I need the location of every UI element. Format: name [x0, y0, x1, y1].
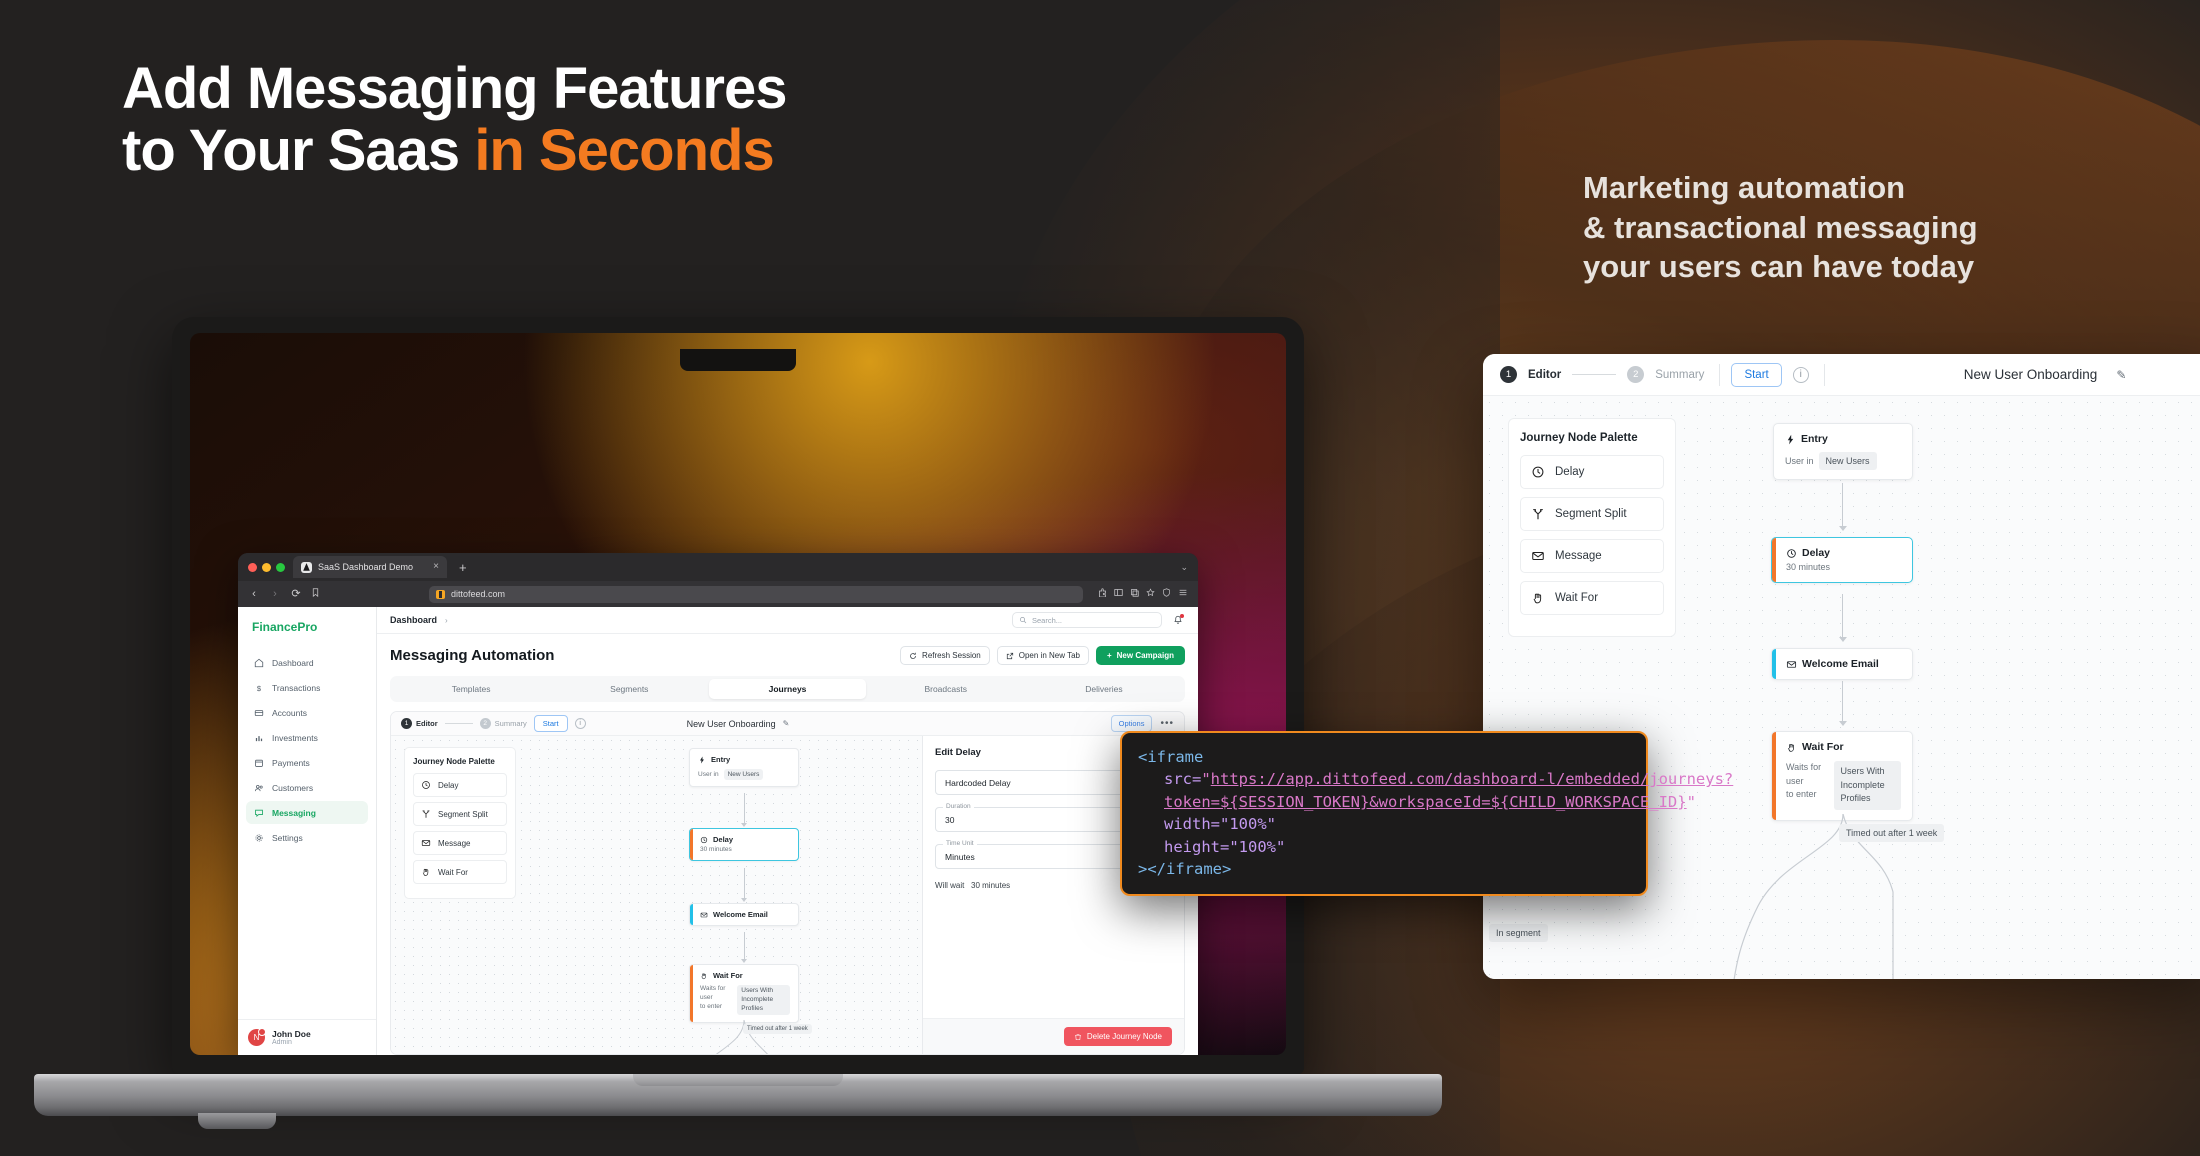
- clock-icon: [1531, 465, 1545, 479]
- code-line-1: <iframe: [1138, 746, 1630, 768]
- panel-waitfor-prefix-l1: Waits for user: [1786, 762, 1821, 786]
- browser-urlbar: ‹ › ⟳ dittofeed.com: [238, 581, 1198, 607]
- new-campaign-button[interactable]: + New Campaign: [1096, 646, 1185, 665]
- node-email-accent-bar: [690, 904, 693, 925]
- laptop-mockup: SaaS Dashboard Demo × + ⌄ ‹ › ⟳ dittofee…: [172, 317, 1304, 1077]
- sidebar-item-label: Dashboard: [272, 658, 314, 668]
- hero-headline: Add Messaging Features to Your Saas in S…: [122, 58, 1122, 182]
- panel-journey-name: New User Onboarding: [1964, 367, 2098, 382]
- breadcrumb[interactable]: Dashboard: [390, 615, 437, 625]
- split-icon: [1531, 507, 1545, 521]
- duration-label: Duration: [943, 803, 974, 810]
- headline-accent: in Seconds: [474, 118, 773, 183]
- panel-step-1-number: 1: [1500, 366, 1517, 383]
- sidebar-item-label: Transactions: [272, 683, 320, 693]
- sidebar-user-profile[interactable]: N John Doe Admin: [238, 1019, 376, 1055]
- code-l4: height="100%": [1164, 838, 1285, 856]
- page-actions: Refresh Session Open in New Tab + New Ca…: [900, 646, 1185, 665]
- address-bar[interactable]: dittofeed.com: [429, 586, 1083, 603]
- edge-arrow: [741, 898, 747, 902]
- node-waitfor-title: Wait For: [713, 971, 743, 980]
- palette-item-label: Message: [438, 839, 470, 848]
- clock-icon: [421, 780, 431, 790]
- code-line-5: ></iframe>: [1138, 858, 1630, 880]
- node-waitfor-accent-bar: [690, 965, 693, 1022]
- delay-type-value: Hardcoded Delay: [945, 778, 1011, 788]
- palette-item-wait-for[interactable]: Wait For: [413, 860, 507, 884]
- sidebar-item-label: Accounts: [272, 708, 307, 718]
- sidebar-item-label: Investments: [272, 733, 318, 743]
- time-unit-value: Minutes: [945, 852, 975, 862]
- bolt-icon: [698, 756, 706, 764]
- node-delay-title: Delay: [713, 835, 733, 844]
- shield-icon[interactable]: [1162, 588, 1171, 600]
- node-delay-header: Delay: [700, 835, 790, 844]
- app-topbar: Dashboard › Search...: [377, 607, 1198, 634]
- panel-node-wait-for[interactable]: Wait For Waits for user to enter Users W…: [1771, 731, 1913, 821]
- notifications-button[interactable]: [1171, 613, 1185, 627]
- node-email-header: Welcome Email: [700, 910, 790, 919]
- node-waitfor-header: Wait For: [700, 971, 790, 980]
- palette-item-delay[interactable]: Delay: [413, 773, 507, 797]
- panel-edge-entry-delay: [1842, 483, 1843, 528]
- browser-tabbar: SaaS Dashboard Demo × + ⌄: [238, 553, 1198, 581]
- close-window-button[interactable]: [248, 563, 257, 572]
- panel-palette-item-label: Delay: [1555, 466, 1584, 478]
- node-waitfor-chip-l2: Incomplete Profiles: [741, 996, 773, 1012]
- clock-icon: [700, 836, 708, 844]
- palette-item-label: Delay: [438, 781, 458, 790]
- panel-edge-email-waitfor: [1842, 681, 1843, 723]
- step-summary[interactable]: 2 Summary: [480, 718, 527, 729]
- code-l3: width="100%": [1164, 815, 1276, 833]
- tab-broadcasts[interactable]: Broadcasts: [868, 679, 1024, 699]
- time-unit-label: Time Unit: [943, 840, 977, 847]
- browser-tab[interactable]: SaaS Dashboard Demo ×: [293, 556, 447, 578]
- panel-edge-arrow: [1839, 526, 1847, 531]
- step-2-number: 2: [480, 718, 491, 729]
- avatar: N: [248, 1029, 265, 1046]
- drawer-title: Edit Delay: [935, 747, 981, 758]
- tab-segments[interactable]: Segments: [551, 679, 707, 699]
- node-waitfor-prefix-l2: to enter: [700, 1003, 722, 1010]
- timeout-label: Timed out after 1 week: [743, 1024, 812, 1034]
- node-entry-title: Entry: [711, 755, 730, 764]
- edit-pencil-icon[interactable]: ✎: [2116, 368, 2126, 382]
- panel-palette-item-wait-for[interactable]: Wait For: [1520, 581, 1664, 615]
- dollar-icon: $: [253, 682, 264, 693]
- refresh-session-button[interactable]: Refresh Session: [900, 646, 990, 665]
- saas-app: FinancePro Dashboard $ Transactions A: [238, 607, 1198, 1055]
- envelope-icon: [700, 911, 708, 919]
- tab-deliveries[interactable]: Deliveries: [1026, 679, 1182, 699]
- sidebar-item-label: Payments: [272, 758, 310, 768]
- panel-step-1-label: Editor: [1528, 369, 1561, 381]
- panel-node-delay-header: Delay: [1786, 547, 1901, 559]
- will-wait-label: Will wait: [935, 881, 964, 890]
- plus-icon: +: [1107, 651, 1112, 660]
- bolt-icon: [1785, 434, 1796, 445]
- sidebar-item-investments[interactable]: Investments: [246, 726, 368, 749]
- external-link-icon: [1006, 652, 1014, 660]
- hand-icon: [421, 867, 431, 877]
- edge-arrow: [741, 823, 747, 827]
- palette-item-segment-split[interactable]: Segment Split: [413, 802, 507, 826]
- journey-canvas[interactable]: Journey Node Palette Delay Segment Split: [391, 736, 1184, 1054]
- options-button[interactable]: Options: [1111, 715, 1153, 732]
- panel-waitfor-prefix-l2: to enter: [1786, 789, 1817, 799]
- panel-palette-title: Journey Node Palette: [1520, 432, 1664, 444]
- sidebar-item-payments[interactable]: Payments: [246, 751, 368, 774]
- journey-node-palette: Journey Node Palette Delay Segment Split: [404, 747, 516, 899]
- code-line-3: width="100%": [1138, 813, 1630, 835]
- minimize-window-button[interactable]: [262, 563, 271, 572]
- envelope-icon: [1786, 659, 1797, 670]
- sidebar-item-settings[interactable]: Settings: [246, 826, 368, 849]
- panel-in-segment-label: In segment: [1489, 924, 1548, 942]
- subhead-line-3: your users can have today: [1583, 247, 2143, 287]
- node-welcome-email[interactable]: Welcome Email: [689, 903, 799, 926]
- bar-chart-icon: [253, 732, 264, 743]
- step-1-label: Editor: [416, 719, 438, 728]
- sidebar-item-label: Customers: [272, 783, 313, 793]
- laptop-base-lip: [633, 1074, 843, 1086]
- panel-node-delay-sub: 30 minutes: [1786, 562, 1901, 572]
- step-1-number: 1: [401, 718, 412, 729]
- open-in-new-tab-button[interactable]: Open in New Tab: [997, 646, 1089, 665]
- gear-icon: [253, 832, 264, 843]
- app-main: Dashboard › Search...: [377, 607, 1198, 1055]
- copy-icon[interactable]: [1130, 588, 1139, 600]
- step-connector: [445, 723, 473, 724]
- duration-value: 30: [945, 815, 954, 825]
- sidebar-item-transactions[interactable]: $ Transactions: [246, 676, 368, 699]
- chevron-down-icon[interactable]: ⌄: [1180, 562, 1188, 573]
- panel-node-waitfor-accent-bar: [1772, 732, 1776, 820]
- will-wait-value: 30 minutes: [971, 881, 1010, 890]
- section-tabs: Templates Segments Journeys Broadcasts D…: [390, 676, 1185, 702]
- panel-node-delay[interactable]: Delay 30 minutes: [1771, 537, 1913, 583]
- node-entry-chip: New Users: [724, 769, 764, 780]
- app-brand: FinancePro: [238, 607, 376, 647]
- panel-node-entry-header: Entry: [1785, 433, 1901, 445]
- browser-toolbar-icons: [1098, 588, 1188, 600]
- panel-node-waitfor-header: Wait For: [1786, 741, 1901, 753]
- panel-node-email-title: Welcome Email: [1802, 658, 1879, 670]
- code-l5: ></iframe>: [1138, 860, 1231, 878]
- headline-line-2-plain: to Your Saas: [122, 118, 474, 183]
- edge-entry-delay: [744, 793, 745, 825]
- tab-favicon-icon: [301, 562, 312, 573]
- clock-icon: [1786, 548, 1797, 559]
- more-options-icon[interactable]: •••: [1160, 718, 1174, 729]
- panel-palette-item-segment-split[interactable]: Segment Split: [1520, 497, 1664, 531]
- hand-icon: [1531, 591, 1545, 605]
- panel-node-entry[interactable]: Entry User in New Users: [1773, 423, 1913, 480]
- reload-icon[interactable]: ⟳: [290, 589, 302, 600]
- sidebar-item-label: Messaging: [272, 808, 316, 818]
- page-header: Messaging Automation Refresh Session Ope…: [377, 634, 1198, 665]
- code-l2-end-quote: ": [1687, 793, 1696, 811]
- new-campaign-label: New Campaign: [1117, 651, 1174, 660]
- panel-node-waitfor-chip: Users With Incomplete Profiles: [1834, 761, 1901, 810]
- site-favicon-icon: [436, 590, 445, 599]
- sidebar-icon[interactable]: [1114, 588, 1123, 600]
- panel-waitfor-chip-l1: Users With: [1841, 766, 1885, 776]
- menu-icon[interactable]: [1178, 588, 1188, 600]
- home-icon: [253, 657, 264, 668]
- code-line-4: height="100%": [1138, 836, 1630, 858]
- node-delay-sub: 30 minutes: [700, 846, 790, 853]
- search-placeholder: Search...: [1032, 616, 1062, 625]
- sidebar-item-customers[interactable]: Customers: [246, 776, 368, 799]
- node-waitfor-chip: Users With Incomplete Profiles: [737, 985, 790, 1015]
- refresh-session-label: Refresh Session: [922, 651, 981, 660]
- panel-node-welcome-email[interactable]: Welcome Email: [1771, 648, 1913, 680]
- panel-node-email-header: Welcome Email: [1786, 658, 1901, 670]
- panel-palette-item-label: Message: [1555, 550, 1602, 562]
- topbar-actions: Search...: [1012, 612, 1185, 628]
- url-text: dittofeed.com: [451, 589, 505, 599]
- extensions-icon[interactable]: [1098, 588, 1107, 600]
- panel-node-entry-prefix: User in: [1785, 456, 1814, 466]
- panel-node-entry-title: Entry: [1801, 433, 1828, 445]
- new-tab-button[interactable]: +: [455, 561, 471, 574]
- start-button[interactable]: Start: [534, 715, 568, 732]
- delete-journey-node-label: Delete Journey Node: [1087, 1032, 1162, 1041]
- edit-pencil-icon[interactable]: ✎: [783, 719, 790, 728]
- tab-templates[interactable]: Templates: [393, 679, 549, 699]
- panel-palette-item-label: Wait For: [1555, 592, 1598, 604]
- app-sidebar: FinancePro Dashboard $ Transactions A: [238, 607, 377, 1055]
- node-entry-prefix: User in: [698, 771, 719, 778]
- panel-node-waitfor-prefix: Waits for user to enter: [1786, 761, 1825, 802]
- search-icon: [1019, 616, 1027, 624]
- sidebar-nav: Dashboard $ Transactions Accounts In: [238, 647, 376, 1019]
- editor-header: 1 Editor 2 Summary Start i New User Onbo…: [391, 712, 1184, 736]
- sidebar-item-label: Settings: [272, 833, 303, 843]
- node-waitfor-body: Waits for user to enter Users With Incom…: [700, 985, 790, 1015]
- browser-window: SaaS Dashboard Demo × + ⌄ ‹ › ⟳ dittofee…: [238, 553, 1198, 1055]
- panel-node-entry-body: User in New Users: [1785, 452, 1901, 470]
- panel-header: 1 Editor 2 Summary Start i New User Onbo…: [1483, 354, 2200, 396]
- code-l2-url-b: token=${SESSION_TOKEN}&workspaceId=${CHI…: [1164, 793, 1687, 811]
- breadcrumb-separator-icon: ›: [445, 616, 448, 625]
- node-delay-accent-bar: [690, 829, 693, 860]
- panel-node-delay-title: Delay: [1802, 547, 1830, 559]
- panel-node-email-accent-bar: [1772, 649, 1776, 679]
- sidebar-item-dashboard[interactable]: Dashboard: [246, 651, 368, 674]
- panel-node-waitfor-title: Wait For: [1802, 741, 1844, 753]
- code-line-2b: token=${SESSION_TOKEN}&workspaceId=${CHI…: [1138, 791, 1630, 813]
- node-entry-body: User in New Users: [698, 769, 790, 780]
- panel-palette-item-delay[interactable]: Delay: [1520, 455, 1664, 489]
- panel-timeout-label: Timed out after 1 week: [1839, 824, 1944, 842]
- panel-node-palette: Journey Node Palette Delay Segment Split…: [1508, 418, 1676, 637]
- journey-name: New User Onboarding: [687, 719, 776, 729]
- palette-title: Journey Node Palette: [413, 757, 507, 766]
- panel-edge-arrow: [1839, 721, 1847, 726]
- palette-item-message[interactable]: Message: [413, 831, 507, 855]
- tab-close-icon[interactable]: ×: [433, 562, 439, 572]
- node-entry-header: Entry: [698, 755, 790, 764]
- iframe-code-callout: <iframe src="https://app.dittofeed.com/d…: [1120, 731, 1648, 896]
- tab-journeys[interactable]: Journeys: [709, 679, 865, 699]
- panel-step-2-number: 2: [1627, 366, 1644, 383]
- calendar-icon: [253, 757, 264, 768]
- laptop-foot: [198, 1113, 276, 1129]
- user-name: John Doe: [272, 1029, 311, 1039]
- window-controls[interactable]: [248, 563, 285, 572]
- envelope-icon: [421, 838, 431, 848]
- search-input[interactable]: Search...: [1012, 612, 1162, 628]
- panel-node-waitfor-body: Waits for user to enter Users With Incom…: [1786, 761, 1901, 810]
- users-icon: [253, 782, 264, 793]
- sidebar-item-accounts[interactable]: Accounts: [246, 701, 368, 724]
- code-l2-quote: ": [1201, 770, 1210, 788]
- laptop-screen: SaaS Dashboard Demo × + ⌄ ‹ › ⟳ dittofee…: [190, 333, 1286, 1055]
- node-delay[interactable]: Delay 30 minutes: [689, 828, 799, 861]
- palette-item-label: Segment Split: [438, 810, 488, 819]
- notification-badge: [1180, 614, 1184, 618]
- code-l2-url-a: https://app.dittofeed.com/dashboard-l/em…: [1211, 770, 1734, 788]
- chat-icon: [253, 807, 264, 818]
- panel-start-button[interactable]: Start: [1731, 363, 1781, 387]
- maximize-window-button[interactable]: [276, 563, 285, 572]
- headline-line-1: Add Messaging Features: [122, 56, 786, 121]
- panel-edge-arrow: [1839, 637, 1847, 642]
- envelope-icon: [1531, 549, 1545, 563]
- subhead-line-1: Marketing automation: [1583, 168, 2143, 208]
- code-l2-attr: src=: [1164, 770, 1201, 788]
- panel-palette-item-label: Segment Split: [1555, 508, 1627, 520]
- page-title: Messaging Automation: [390, 647, 554, 664]
- reading-list-icon[interactable]: [311, 588, 320, 600]
- hand-icon: [1786, 742, 1797, 753]
- node-waitfor-chip-l1: Users With: [741, 987, 773, 994]
- sidebar-item-messaging[interactable]: Messaging: [246, 801, 368, 824]
- hero-subheadline: Marketing automation & transactional mes…: [1583, 168, 2143, 287]
- card-icon: [253, 707, 264, 718]
- user-role: Admin: [272, 1039, 311, 1046]
- code-line-2: src="https://app.dittofeed.com/dashboard…: [1138, 768, 1630, 790]
- info-icon[interactable]: i: [1793, 367, 1809, 383]
- delete-journey-node-button[interactable]: Delete Journey Node: [1064, 1027, 1172, 1046]
- node-wait-for[interactable]: Wait For Waits for user to enter Users W…: [689, 964, 799, 1023]
- editor-header-actions: Options •••: [1111, 715, 1174, 732]
- step-editor[interactable]: 1 Editor: [401, 718, 438, 729]
- refresh-icon: [909, 652, 917, 660]
- edge-delay-email: [744, 868, 745, 900]
- panel-step-connector: [1572, 374, 1616, 375]
- edge-arrow: [741, 959, 747, 963]
- embedded-journey-editor: 1 Editor 2 Summary Start i New User Onbo…: [390, 711, 1185, 1055]
- laptop-notch: [680, 349, 796, 371]
- panel-node-entry-chip: New Users: [1819, 452, 1877, 470]
- svg-text:$: $: [256, 683, 261, 692]
- node-entry[interactable]: Entry User in New Users: [689, 748, 799, 787]
- panel-node-delay-accent-bar: [1772, 538, 1776, 582]
- panel-palette-item-message[interactable]: Message: [1520, 539, 1664, 573]
- tab-title: SaaS Dashboard Demo: [318, 562, 427, 572]
- panel-header-divider: [1719, 364, 1720, 386]
- node-waitfor-prefix: Waits for user to enter: [700, 985, 732, 1011]
- edge-email-waitfor: [744, 932, 745, 961]
- subhead-line-2: & transactional messaging: [1583, 208, 2143, 248]
- forward-icon[interactable]: ›: [269, 589, 281, 600]
- info-icon[interactable]: i: [575, 718, 586, 729]
- headline-line-2: to Your Saas in Seconds: [122, 120, 1122, 182]
- panel-header-divider-2: [1824, 364, 1825, 386]
- back-icon[interactable]: ‹: [248, 589, 260, 600]
- panel-edge-delay-email: [1842, 594, 1843, 639]
- palette-item-label: Wait For: [438, 868, 468, 877]
- panel-waitfor-chip-l2: Incomplete Profiles: [1841, 780, 1885, 804]
- step-2-label: Summary: [495, 719, 527, 728]
- drawer-footer: Delete Journey Node: [923, 1018, 1184, 1054]
- split-icon: [421, 809, 431, 819]
- panel-step-2-label: Summary: [1655, 369, 1704, 381]
- star-icon[interactable]: [1146, 588, 1155, 600]
- node-email-title: Welcome Email: [713, 910, 768, 919]
- open-in-new-tab-label: Open in New Tab: [1019, 651, 1080, 660]
- code-l1-tag: <iframe: [1138, 748, 1203, 766]
- node-waitfor-prefix-l1: Waits for user: [700, 985, 725, 1001]
- trash-icon: [1074, 1033, 1082, 1041]
- hand-icon: [700, 972, 708, 980]
